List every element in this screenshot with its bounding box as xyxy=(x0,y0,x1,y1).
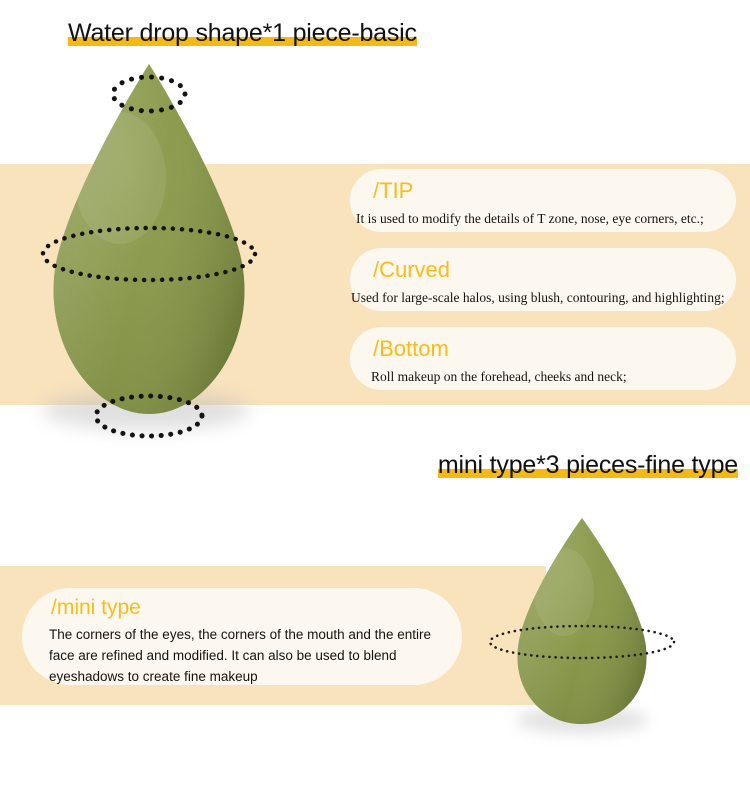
info-card-curved[interactable]: /Curved Used for large-scale halos, usin… xyxy=(350,248,736,311)
info-card-bottom-heading: /Bottom xyxy=(373,338,449,360)
infographic-canvas: Water drop shape*1 piece-basic xyxy=(0,0,750,792)
info-card-mini-body: The corners of the eyes, the corners of … xyxy=(49,625,449,688)
sponge-sheen xyxy=(24,58,274,438)
sponge-highlight xyxy=(74,112,166,244)
info-card-bottom-body: Roll makeup on the forehead, cheeks and … xyxy=(371,368,627,386)
mini-sponge-highlight xyxy=(534,548,594,636)
section-title-basic: Water drop shape*1 piece-basic xyxy=(68,20,417,46)
info-card-curved-heading: /Curved xyxy=(373,259,450,281)
section-title-basic-text: Water drop shape*1 piece-basic xyxy=(68,20,417,46)
info-card-curved-body: Used for large-scale halos, using blush,… xyxy=(351,289,725,307)
section-title-mini: mini type*3 pieces-fine type xyxy=(438,452,738,478)
info-card-mini-heading: /mini type xyxy=(51,597,141,618)
info-card-tip-heading: /TIP xyxy=(373,180,413,202)
info-card-mini-type[interactable]: /mini type The corners of the eyes, the … xyxy=(22,588,462,685)
mini-egg-sponge-icon xyxy=(498,514,666,732)
info-card-tip[interactable]: /TIP It is used to modify the details of… xyxy=(350,169,736,232)
info-card-tip-body: It is used to modify the details of T zo… xyxy=(356,210,704,228)
info-card-bottom[interactable]: /Bottom Roll makeup on the forehead, che… xyxy=(350,327,736,390)
section-title-mini-text: mini type*3 pieces-fine type xyxy=(438,452,738,478)
water-drop-sponge-icon xyxy=(24,58,274,438)
